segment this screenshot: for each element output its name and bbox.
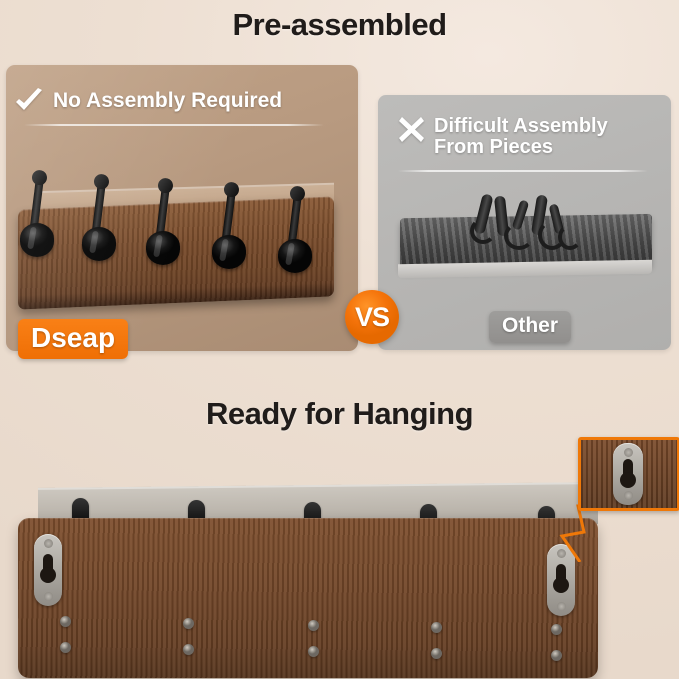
cross-icon — [398, 116, 425, 143]
page-title-pre-assembled: Pre-assembled — [0, 7, 679, 43]
screw — [183, 618, 194, 629]
hook-tangle — [558, 224, 582, 250]
screw — [431, 648, 442, 659]
coat-hook — [146, 181, 180, 267]
good-feature-label: No Assembly Required — [53, 88, 282, 112]
screw — [551, 650, 562, 661]
coat-hook — [212, 185, 246, 271]
bad-feature-row: Difficult Assembly From Pieces — [398, 116, 608, 158]
product-infographic: Pre-assembled No Assembly Required Dseap — [0, 0, 679, 679]
divider-left — [24, 124, 324, 126]
keyhole-hanger — [34, 534, 62, 606]
screw — [308, 646, 319, 657]
keyhole-zoom-callout — [578, 437, 679, 511]
other-badge: Other — [489, 311, 571, 343]
good-feature-row: No Assembly Required — [14, 88, 282, 115]
bad-feature-line1: Difficult Assembly — [434, 116, 608, 137]
product-photo-disassembled-rack — [392, 192, 662, 304]
keyhole-hanger-magnified — [613, 443, 643, 505]
screw — [308, 620, 319, 631]
brand-badge: Dseap — [18, 319, 128, 359]
divider-right — [398, 170, 648, 172]
board-back-face — [18, 518, 598, 678]
screw — [60, 616, 71, 627]
flat-board-edge — [398, 260, 652, 278]
coat-hook — [278, 189, 312, 275]
screw — [431, 622, 442, 633]
screw — [60, 642, 71, 653]
bad-feature-line2: From Pieces — [434, 137, 608, 158]
hook-tangle — [470, 218, 496, 244]
screw — [551, 624, 562, 635]
screw — [183, 644, 194, 655]
coat-hook — [82, 177, 116, 263]
check-icon — [14, 88, 44, 115]
page-title-ready-for-hanging: Ready for Hanging — [0, 396, 679, 432]
coat-hook — [20, 173, 54, 259]
hook-tangle — [504, 222, 534, 250]
bad-feature-label: Difficult Assembly From Pieces — [434, 116, 608, 158]
versus-badge: VS — [345, 290, 399, 344]
